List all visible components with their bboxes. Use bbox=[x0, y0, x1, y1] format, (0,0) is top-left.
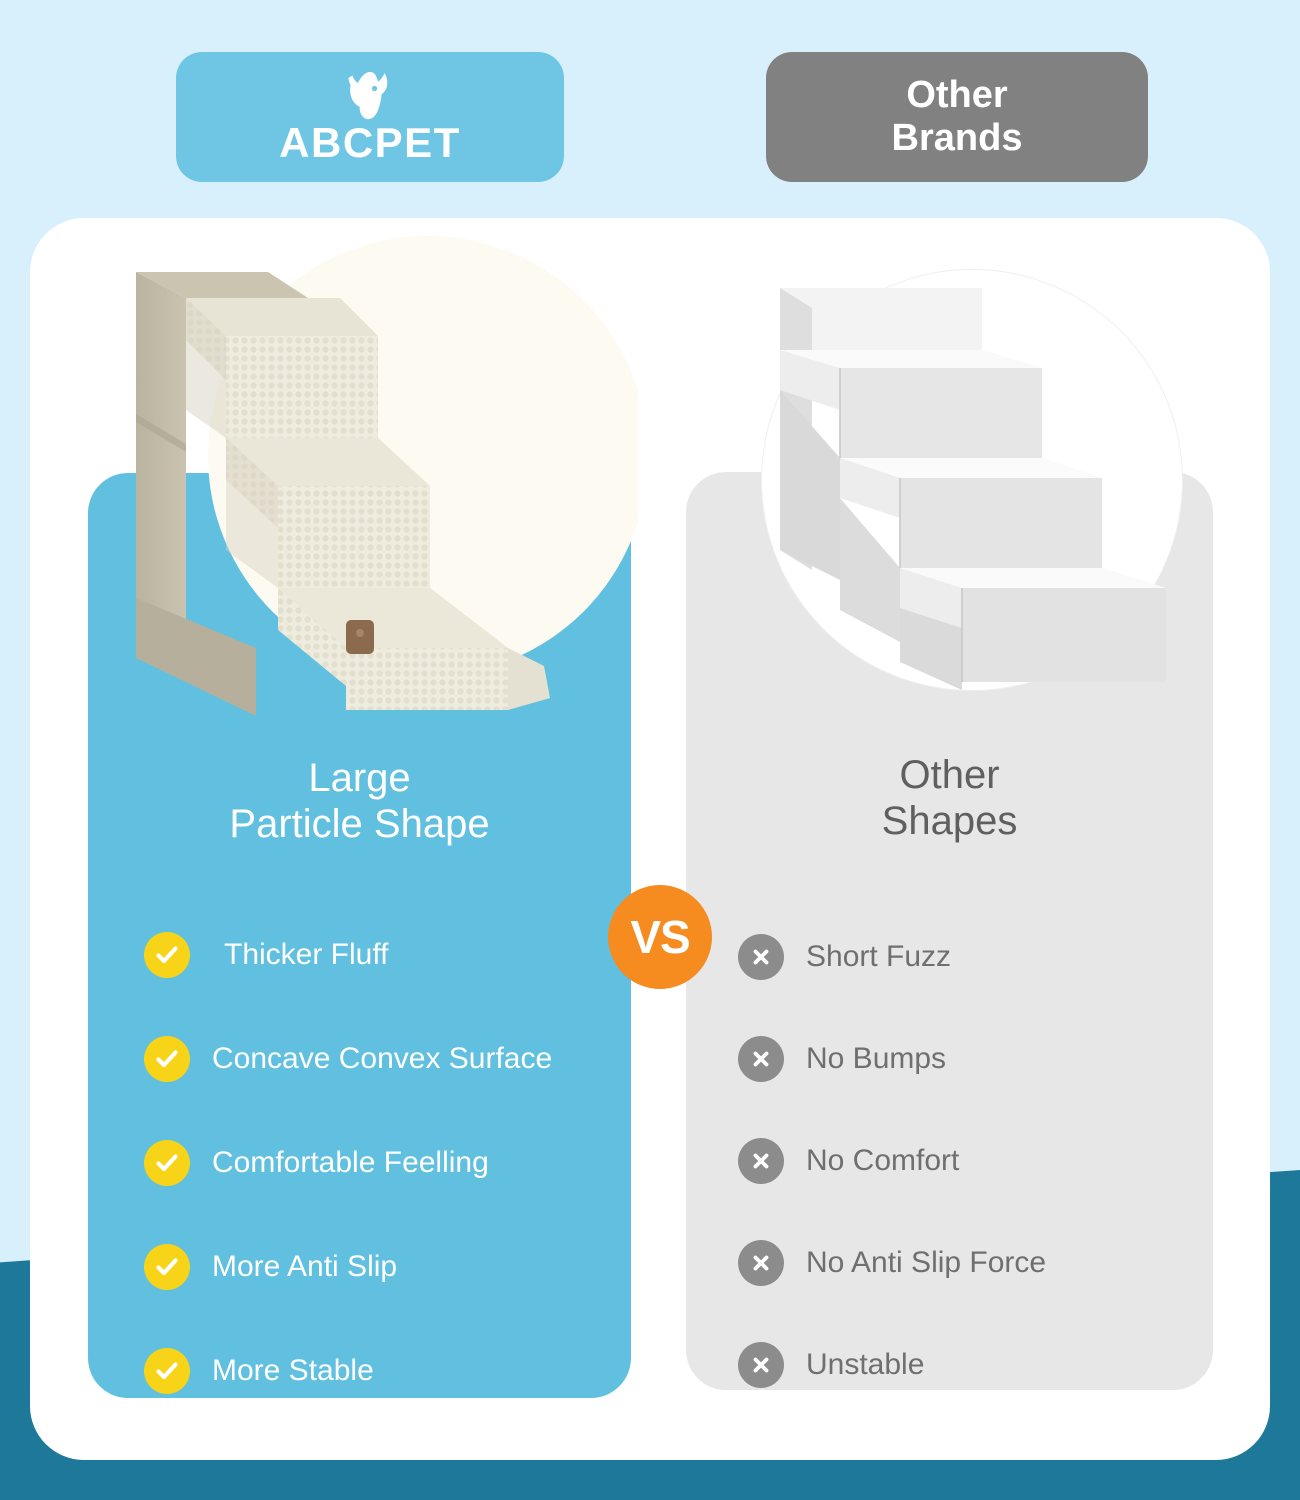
feature-item: More Stable bbox=[144, 1319, 605, 1423]
dog-head-icon bbox=[340, 70, 400, 122]
feature-label: Short Fuzz bbox=[806, 939, 951, 974]
panel-theirs-title-line1: Other bbox=[686, 752, 1213, 798]
cross-icon bbox=[738, 1342, 784, 1388]
panel-ours-title-line1: Large bbox=[88, 755, 631, 801]
feature-item: Concave Convex Surface bbox=[144, 1007, 605, 1111]
feature-label: No Anti Slip Force bbox=[806, 1245, 1046, 1280]
feature-item: No Bumps bbox=[738, 1008, 1193, 1110]
beige-pet-stairs-illustration bbox=[78, 228, 638, 718]
feature-label: More Stable bbox=[212, 1353, 374, 1388]
brand-name: ABCPET bbox=[279, 122, 461, 164]
cross-icon bbox=[738, 1138, 784, 1184]
feature-item: No Comfort bbox=[738, 1110, 1193, 1212]
vs-label: VS bbox=[630, 910, 689, 964]
check-icon bbox=[144, 1348, 190, 1394]
check-icon bbox=[144, 1036, 190, 1082]
feature-item: Short Fuzz bbox=[738, 906, 1193, 1008]
competitor-badge-line2: Brands bbox=[892, 117, 1023, 160]
feature-item: Comfortable Feelling bbox=[144, 1111, 605, 1215]
feature-label: Comfortable Feelling bbox=[212, 1145, 489, 1180]
panel-ours-title: Large Particle Shape bbox=[88, 755, 631, 847]
header: ABCPET Other Brands bbox=[0, 52, 1300, 182]
feature-label: No Comfort bbox=[806, 1143, 959, 1178]
feature-label: Unstable bbox=[806, 1347, 924, 1382]
check-icon bbox=[144, 1140, 190, 1186]
feature-item: More Anti Slip bbox=[144, 1215, 605, 1319]
cross-icon bbox=[738, 934, 784, 980]
competitor-badge-line1: Other bbox=[906, 74, 1007, 117]
feature-item: Unstable bbox=[738, 1314, 1193, 1416]
product-image-theirs bbox=[742, 250, 1192, 720]
feature-list-ours: Thicker Fluff Concave Convex Surface Com… bbox=[88, 903, 631, 1423]
feature-item: Thicker Fluff bbox=[144, 903, 605, 1007]
feature-label: More Anti Slip bbox=[212, 1249, 397, 1284]
feature-list-theirs: Short Fuzz No Bumps No Comfort No Anti S… bbox=[686, 906, 1213, 1416]
brand-badge: ABCPET bbox=[176, 52, 564, 182]
product-image-ours bbox=[78, 228, 638, 718]
white-pet-stairs-illustration bbox=[742, 250, 1192, 720]
vs-badge: VS bbox=[608, 885, 712, 989]
check-icon bbox=[144, 932, 190, 978]
panel-theirs-title: Other Shapes bbox=[686, 752, 1213, 844]
feature-label: No Bumps bbox=[806, 1041, 946, 1076]
competitor-badge: Other Brands bbox=[766, 52, 1148, 182]
panel-theirs-title-line2: Shapes bbox=[686, 798, 1213, 844]
feature-item: No Anti Slip Force bbox=[738, 1212, 1193, 1314]
check-icon bbox=[144, 1244, 190, 1290]
cross-icon bbox=[738, 1036, 784, 1082]
cross-icon bbox=[738, 1240, 784, 1286]
feature-label: Thicker Fluff bbox=[212, 937, 389, 972]
panel-ours-title-line2: Particle Shape bbox=[88, 801, 631, 847]
feature-label: Concave Convex Surface bbox=[212, 1041, 552, 1076]
